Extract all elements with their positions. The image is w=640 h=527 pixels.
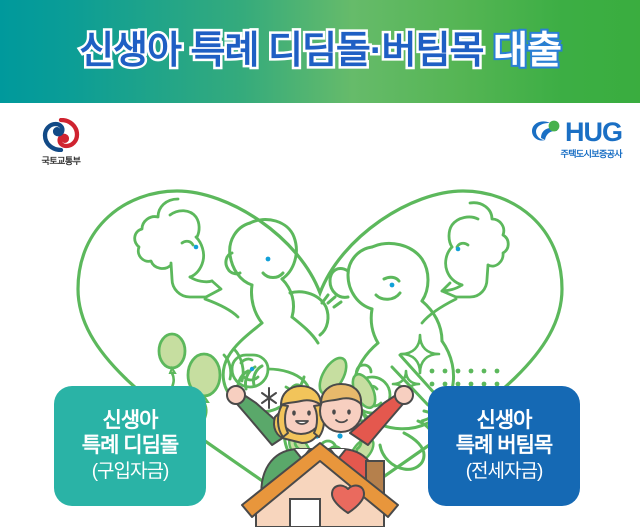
beotimmok-line2: 특례 버팀목 <box>456 434 552 459</box>
didimdol-line1: 신생아 <box>103 409 158 434</box>
beotimmok-loan-button[interactable]: 신생아 특례 버팀목 (전세자금) <box>428 386 580 506</box>
header-banner: 신생아 특례 디딤돌·버팀목 대출 <box>0 0 640 103</box>
grandfather-figure <box>422 203 508 323</box>
page-title-accent: 대출 <box>493 30 561 72</box>
page-title: 신생아 특례 디딤돌·버팀목 대출 <box>0 27 640 75</box>
didimdol-loan-button[interactable]: 신생아 특례 디딤돌 (구입자금) <box>54 386 206 506</box>
beotimmok-line3: (전세자금) <box>466 461 543 483</box>
didimdol-line2: 특례 디딤돌 <box>82 434 178 459</box>
page-title-main: 신생아 특례 디딤돌·버팀목 <box>79 30 483 72</box>
grandmother-figure <box>135 199 238 317</box>
beotimmok-line1: 신생아 <box>477 409 532 434</box>
poster-root: 신생아 특례 디딤돌·버팀목 대출 국토교통부 HUG 주택도시보증공사 <box>0 0 640 527</box>
didimdol-line3: (구입자금) <box>92 461 169 483</box>
